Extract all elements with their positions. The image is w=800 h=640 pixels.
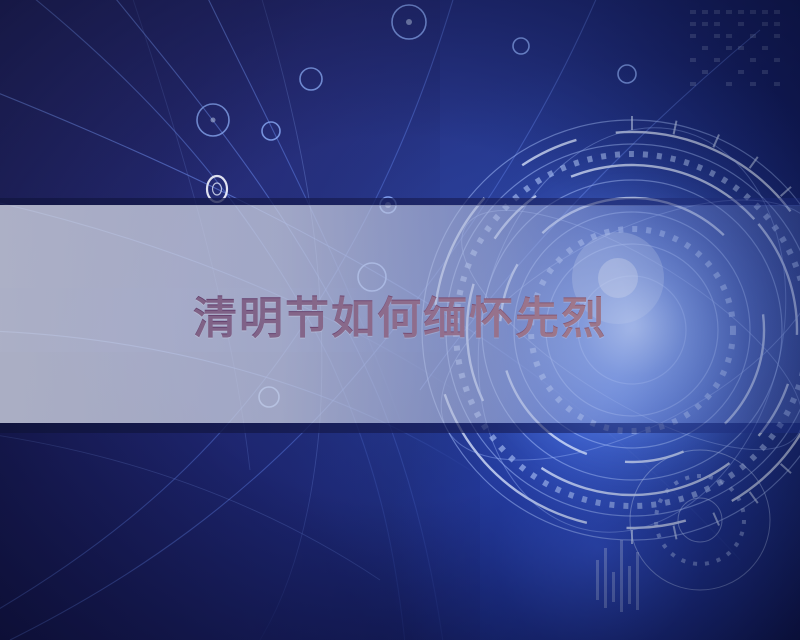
banner-image: 清明节如何缅怀先烈 — [0, 0, 800, 640]
banner-strip-bottom-edge — [0, 423, 800, 433]
banner-title: 清明节如何缅怀先烈 — [0, 205, 800, 423]
